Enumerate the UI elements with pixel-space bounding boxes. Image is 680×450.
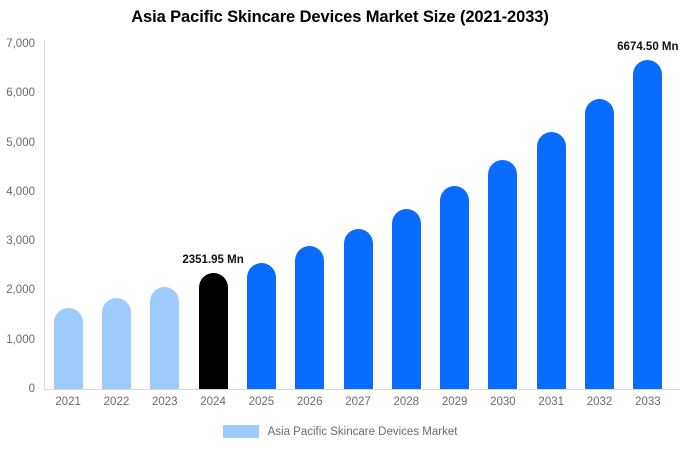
bar-2028[interactable] bbox=[392, 209, 421, 389]
x-axis-tick-label: 2026 bbox=[297, 396, 323, 408]
y-axis-tick-label: 0 bbox=[0, 383, 44, 395]
bar-2032[interactable] bbox=[585, 99, 614, 389]
x-axis-tick-label: 2030 bbox=[490, 396, 516, 408]
x-axis-tick-label: 2024 bbox=[200, 396, 226, 408]
y-axis-tick-label: 7,000 bbox=[0, 38, 44, 50]
y-axis-tick-label: 4,000 bbox=[0, 186, 44, 198]
x-axis-tick-label: 2022 bbox=[104, 396, 130, 408]
bar-2025[interactable] bbox=[247, 263, 276, 389]
data-label-2024: 2351.95 Mn bbox=[182, 254, 243, 266]
bar-2031[interactable] bbox=[537, 132, 566, 389]
x-axis-line bbox=[44, 389, 680, 390]
x-axis-tick-label: 2033 bbox=[635, 396, 661, 408]
x-axis-tick-label: 2031 bbox=[538, 396, 564, 408]
x-axis-tick-label: 2027 bbox=[345, 396, 371, 408]
data-label-2033: 6674.50 Mn bbox=[617, 41, 678, 53]
x-axis-tick-label: 2032 bbox=[587, 396, 613, 408]
y-axis-tick-label: 2,000 bbox=[0, 284, 44, 296]
x-axis-tick-label: 2021 bbox=[55, 396, 81, 408]
bar-2030[interactable] bbox=[488, 160, 517, 389]
bar-2033[interactable] bbox=[633, 60, 662, 389]
bar-2029[interactable] bbox=[440, 186, 469, 389]
y-axis-tick-label: 1,000 bbox=[0, 334, 44, 346]
legend-swatch-icon bbox=[223, 425, 259, 438]
y-axis-tick-label: 5,000 bbox=[0, 137, 44, 149]
x-axis-tick-label: 2025 bbox=[249, 396, 275, 408]
x-axis-tick-label: 2028 bbox=[394, 396, 420, 408]
y-axis-tick-label: 3,000 bbox=[0, 235, 44, 247]
chart-container: Asia Pacific Skincare Devices Market Siz… bbox=[0, 0, 680, 450]
bar-2026[interactable] bbox=[295, 246, 324, 389]
bar-2021[interactable] bbox=[54, 308, 83, 389]
legend-label: Asia Pacific Skincare Devices Market bbox=[268, 426, 458, 438]
bar-2023[interactable] bbox=[150, 287, 179, 389]
bar-2027[interactable] bbox=[344, 229, 373, 389]
y-axis-tick-label: 6,000 bbox=[0, 87, 44, 99]
bar-2024[interactable] bbox=[199, 273, 228, 389]
x-axis-tick-label: 2023 bbox=[152, 396, 178, 408]
bar-2022[interactable] bbox=[102, 298, 131, 389]
x-axis-tick-label: 2029 bbox=[442, 396, 468, 408]
chart-legend: Asia Pacific Skincare Devices Market bbox=[0, 425, 680, 438]
y-axis-line bbox=[44, 40, 45, 390]
chart-title: Asia Pacific Skincare Devices Market Siz… bbox=[0, 8, 680, 27]
